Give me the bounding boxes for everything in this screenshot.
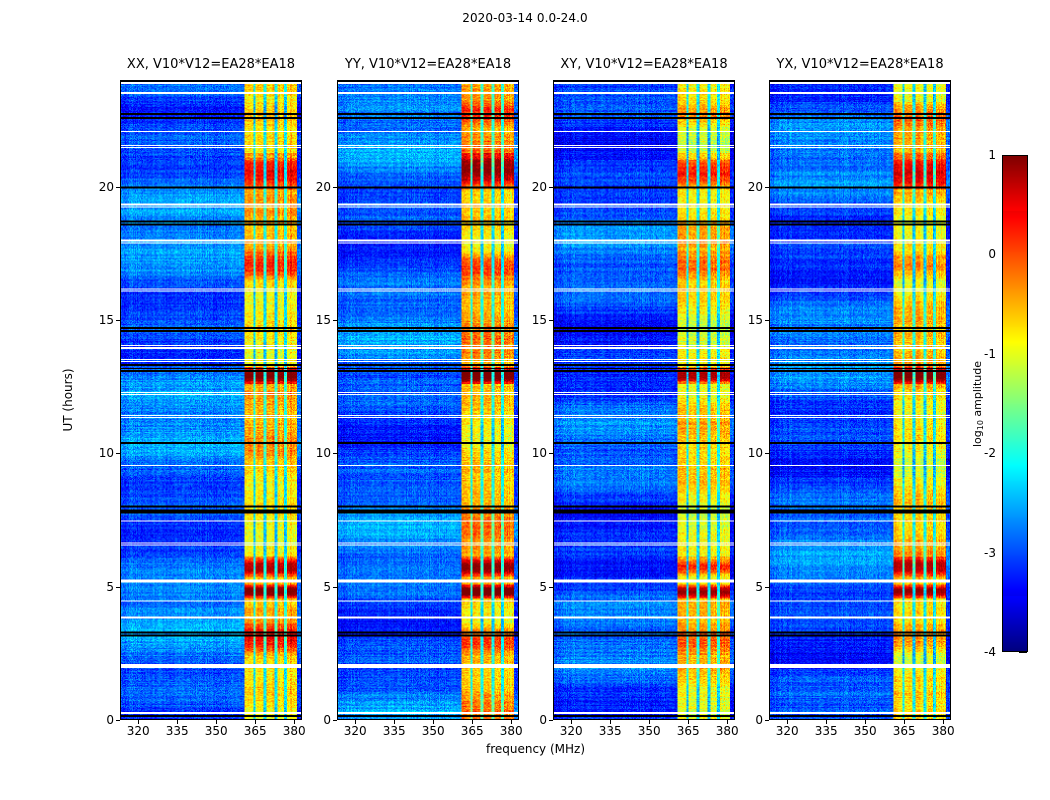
panel-xx[interactable]: XX, V10*V12=EA28*EA18 bbox=[120, 80, 302, 720]
y-tick-mark bbox=[116, 187, 120, 188]
x-tick-label: 350 bbox=[854, 724, 877, 738]
x-tick-mark bbox=[294, 720, 295, 724]
figure-canvas: 2020-03-14 0.0-24.0 XX, V10*V12=EA28*EA1… bbox=[0, 0, 1050, 800]
x-tick-label: 380 bbox=[500, 724, 523, 738]
y-tick-label: 10 bbox=[311, 446, 331, 460]
y-tick-label: 5 bbox=[311, 580, 331, 594]
x-tick-label: 320 bbox=[127, 724, 150, 738]
y-tick-mark bbox=[116, 587, 120, 588]
y-tick-mark bbox=[549, 453, 553, 454]
x-tick-label: 380 bbox=[283, 724, 306, 738]
waterfall-canvas-yx bbox=[770, 81, 950, 719]
y-tick-label: 5 bbox=[94, 580, 114, 594]
x-tick-label: 320 bbox=[776, 724, 799, 738]
x-tick-label: 335 bbox=[166, 724, 189, 738]
y-tick-mark bbox=[549, 320, 553, 321]
colorbar-tick-mark bbox=[1019, 652, 1027, 653]
y-tick-mark bbox=[116, 320, 120, 321]
y-tick-label: 10 bbox=[94, 446, 114, 460]
y-tick-mark bbox=[549, 587, 553, 588]
x-tick-label: 350 bbox=[422, 724, 445, 738]
x-tick-label: 380 bbox=[716, 724, 739, 738]
waterfall-plot-xy[interactable] bbox=[553, 80, 735, 720]
colorbar-tick-label: -2 bbox=[984, 446, 996, 460]
figure-suptitle: 2020-03-14 0.0-24.0 bbox=[0, 11, 1050, 25]
y-tick-label: 0 bbox=[527, 713, 547, 727]
y-tick-label: 15 bbox=[311, 313, 331, 327]
x-tick-label: 380 bbox=[932, 724, 955, 738]
x-tick-label: 335 bbox=[599, 724, 622, 738]
y-tick-label: 20 bbox=[743, 180, 763, 194]
y-tick-mark bbox=[765, 587, 769, 588]
waterfall-plot-yy[interactable] bbox=[337, 80, 519, 720]
y-tick-label: 10 bbox=[527, 446, 547, 460]
colorbar[interactable] bbox=[1002, 155, 1028, 652]
y-tick-mark bbox=[333, 453, 337, 454]
x-tick-label: 350 bbox=[205, 724, 228, 738]
panel-yx[interactable]: YX, V10*V12=EA28*EA18 bbox=[769, 80, 951, 720]
x-tick-mark bbox=[138, 720, 139, 724]
waterfall-plot-yx[interactable] bbox=[769, 80, 951, 720]
x-tick-mark bbox=[255, 720, 256, 724]
x-axis-label: frequency (MHz) bbox=[120, 742, 951, 756]
y-tick-mark bbox=[549, 187, 553, 188]
x-tick-label: 335 bbox=[383, 724, 406, 738]
x-tick-mark bbox=[511, 720, 512, 724]
colorbar-tick-label: 1 bbox=[988, 148, 996, 162]
y-tick-mark bbox=[765, 720, 769, 721]
x-tick-mark bbox=[727, 720, 728, 724]
y-tick-mark bbox=[333, 720, 337, 721]
y-tick-label: 20 bbox=[527, 180, 547, 194]
x-tick-mark bbox=[865, 720, 866, 724]
colorbar-gradient bbox=[1003, 156, 1027, 651]
x-tick-mark bbox=[787, 720, 788, 724]
colorbar-label: log10 amplitude bbox=[971, 360, 985, 446]
x-tick-mark bbox=[216, 720, 217, 724]
x-tick-mark bbox=[433, 720, 434, 724]
x-tick-label: 365 bbox=[244, 724, 267, 738]
x-tick-label: 365 bbox=[461, 724, 484, 738]
y-tick-label: 10 bbox=[743, 446, 763, 460]
x-tick-mark bbox=[649, 720, 650, 724]
x-tick-mark bbox=[904, 720, 905, 724]
y-tick-label: 5 bbox=[527, 580, 547, 594]
y-tick-label: 5 bbox=[743, 580, 763, 594]
waterfall-canvas-xx bbox=[121, 81, 301, 719]
y-tick-label: 15 bbox=[94, 313, 114, 327]
panel-title-yx: YX, V10*V12=EA28*EA18 bbox=[776, 57, 943, 72]
x-tick-mark bbox=[177, 720, 178, 724]
x-tick-label: 365 bbox=[677, 724, 700, 738]
y-tick-mark bbox=[765, 453, 769, 454]
y-tick-label: 15 bbox=[743, 313, 763, 327]
y-tick-mark bbox=[333, 320, 337, 321]
waterfall-canvas-xy bbox=[554, 81, 734, 719]
panel-xy[interactable]: XY, V10*V12=EA28*EA18 bbox=[553, 80, 735, 720]
colorbar-tick-label: -1 bbox=[984, 347, 996, 361]
x-tick-mark bbox=[394, 720, 395, 724]
x-tick-label: 335 bbox=[815, 724, 838, 738]
y-tick-label: 0 bbox=[743, 713, 763, 727]
panel-title-yy: YY, V10*V12=EA28*EA18 bbox=[345, 57, 511, 72]
x-tick-mark bbox=[610, 720, 611, 724]
y-tick-mark bbox=[765, 320, 769, 321]
x-tick-label: 350 bbox=[638, 724, 661, 738]
y-tick-mark bbox=[549, 720, 553, 721]
x-tick-mark bbox=[826, 720, 827, 724]
x-tick-label: 365 bbox=[893, 724, 916, 738]
colorbar-tick-label: -3 bbox=[984, 546, 996, 560]
panel-title-xy: XY, V10*V12=EA28*EA18 bbox=[560, 57, 727, 72]
y-tick-mark bbox=[765, 187, 769, 188]
y-tick-label: 20 bbox=[311, 180, 331, 194]
x-tick-mark bbox=[571, 720, 572, 724]
x-tick-mark bbox=[688, 720, 689, 724]
colorbar-tick-label: 0 bbox=[988, 247, 996, 261]
waterfall-plot-xx[interactable] bbox=[120, 80, 302, 720]
y-tick-label: 20 bbox=[94, 180, 114, 194]
y-tick-mark bbox=[333, 587, 337, 588]
panel-title-xx: XX, V10*V12=EA28*EA18 bbox=[127, 57, 295, 72]
y-tick-label: 0 bbox=[94, 713, 114, 727]
x-tick-label: 320 bbox=[344, 724, 367, 738]
y-tick-label: 15 bbox=[527, 313, 547, 327]
y-axis-label: UT (hours) bbox=[61, 368, 75, 431]
x-tick-mark bbox=[355, 720, 356, 724]
y-tick-mark bbox=[116, 453, 120, 454]
x-tick-label: 320 bbox=[560, 724, 583, 738]
x-tick-mark bbox=[472, 720, 473, 724]
y-tick-mark bbox=[116, 720, 120, 721]
x-tick-mark bbox=[943, 720, 944, 724]
waterfall-canvas-yy bbox=[338, 81, 518, 719]
y-tick-label: 0 bbox=[311, 713, 331, 727]
panel-yy[interactable]: YY, V10*V12=EA28*EA18 bbox=[337, 80, 519, 720]
colorbar-tick-label: -4 bbox=[984, 645, 996, 659]
y-tick-mark bbox=[333, 187, 337, 188]
